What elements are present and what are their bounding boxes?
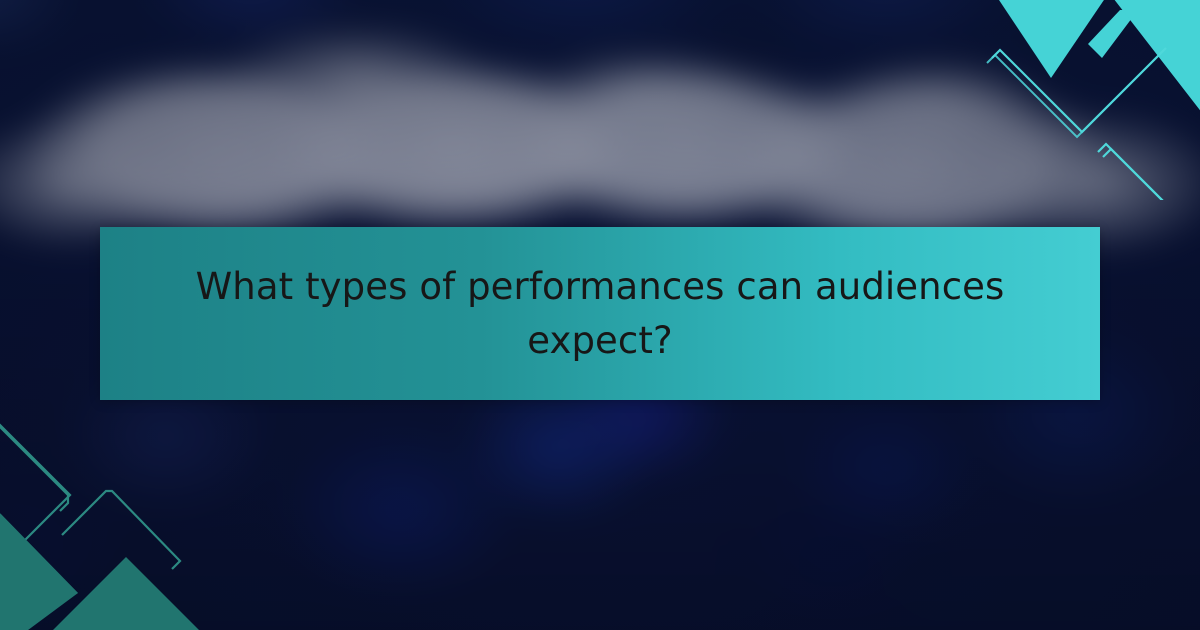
headline-text: What types of performances can audiences…	[180, 260, 1020, 367]
headline-banner: What types of performances can audiences…	[100, 227, 1100, 400]
social-share-card: What types of performances can audiences…	[0, 0, 1200, 630]
